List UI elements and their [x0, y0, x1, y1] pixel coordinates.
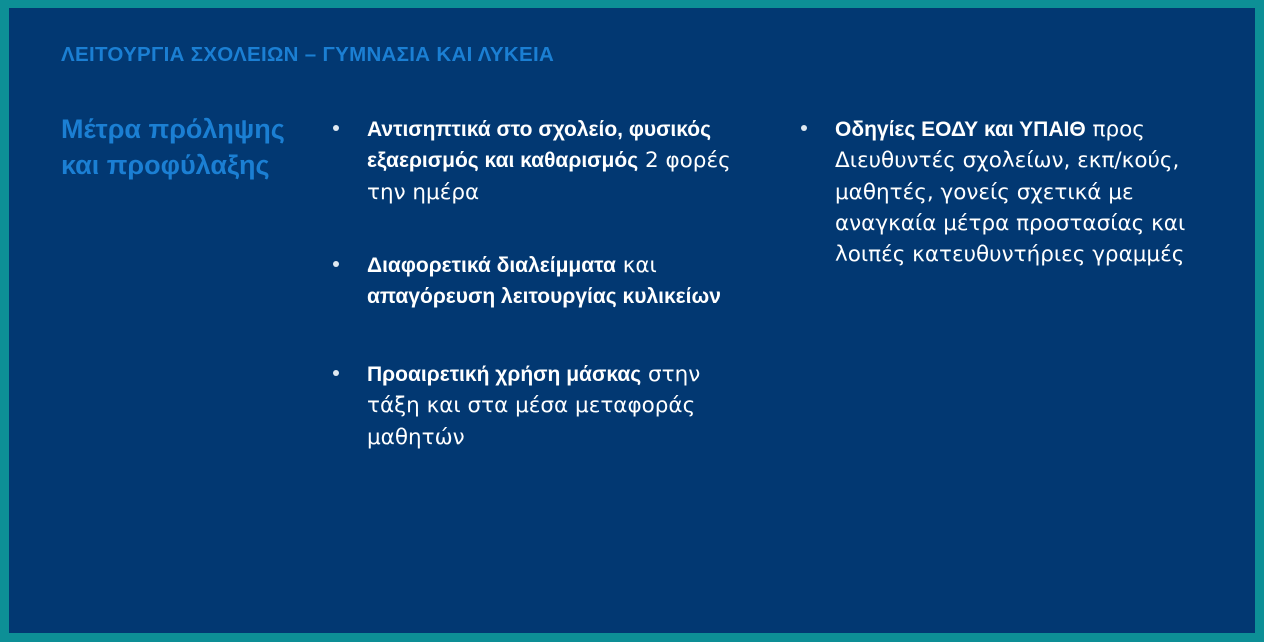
- column-guidelines: Οδηγίες ΕΟΔΥ και ΥΠΑΙΘ προς Διευθυντές σ…: [787, 104, 1207, 270]
- list-item-text: Αντισηπτικά στο σχολείο, φυσικός εξαερισ…: [367, 117, 731, 205]
- section-heading: Μέτρα πρόληψης και προφύλαξης: [61, 112, 311, 183]
- bullet-dot-icon: [333, 125, 339, 131]
- list-item-text: Προαιρετική χρήση μάσκας στην τάξη και σ…: [367, 362, 700, 450]
- bullet-dot-icon: [801, 125, 807, 131]
- column-measures: Αντισηπτικά στο σχολείο, φυσικός εξαερισ…: [319, 104, 739, 453]
- slide-body: ΛΕΙΤΟΥΡΓΙΑ ΣΧΟΛΕΙΩΝ – ΓΥΜΝΑΣΙΑ ΚΑΙ ΛΥΚΕΙ…: [9, 8, 1255, 633]
- list-item-text: Οδηγίες ΕΟΔΥ και ΥΠΑΙΘ προς Διευθυντές σ…: [835, 117, 1185, 267]
- content-columns: Μέτρα πρόληψης και προφύλαξης Αντισηπτικ…: [9, 104, 1255, 624]
- list-item: Αντισηπτικά στο σχολείο, φυσικός εξαερισ…: [319, 114, 739, 208]
- list-item-text: Διαφορετικά διαλείμματα και απαγόρευση λ…: [367, 253, 721, 309]
- list-item: Προαιρετική χρήση μάσκας στην τάξη και σ…: [319, 359, 739, 453]
- bullet-dot-icon: [333, 370, 339, 376]
- bullet-dot-icon: [333, 261, 339, 267]
- list-item: Οδηγίες ΕΟΔΥ και ΥΠΑΙΘ προς Διευθυντές σ…: [787, 114, 1207, 270]
- slide-frame: ΛΕΙΤΟΥΡΓΙΑ ΣΧΟΛΕΙΩΝ – ΓΥΜΝΑΣΙΑ ΚΑΙ ΛΥΚΕΙ…: [0, 0, 1264, 642]
- page-title: ΛΕΙΤΟΥΡΓΙΑ ΣΧΟΛΕΙΩΝ – ΓΥΜΝΑΣΙΑ ΚΑΙ ΛΥΚΕΙ…: [61, 43, 1161, 67]
- list-item: Διαφορετικά διαλείμματα και απαγόρευση λ…: [319, 250, 739, 313]
